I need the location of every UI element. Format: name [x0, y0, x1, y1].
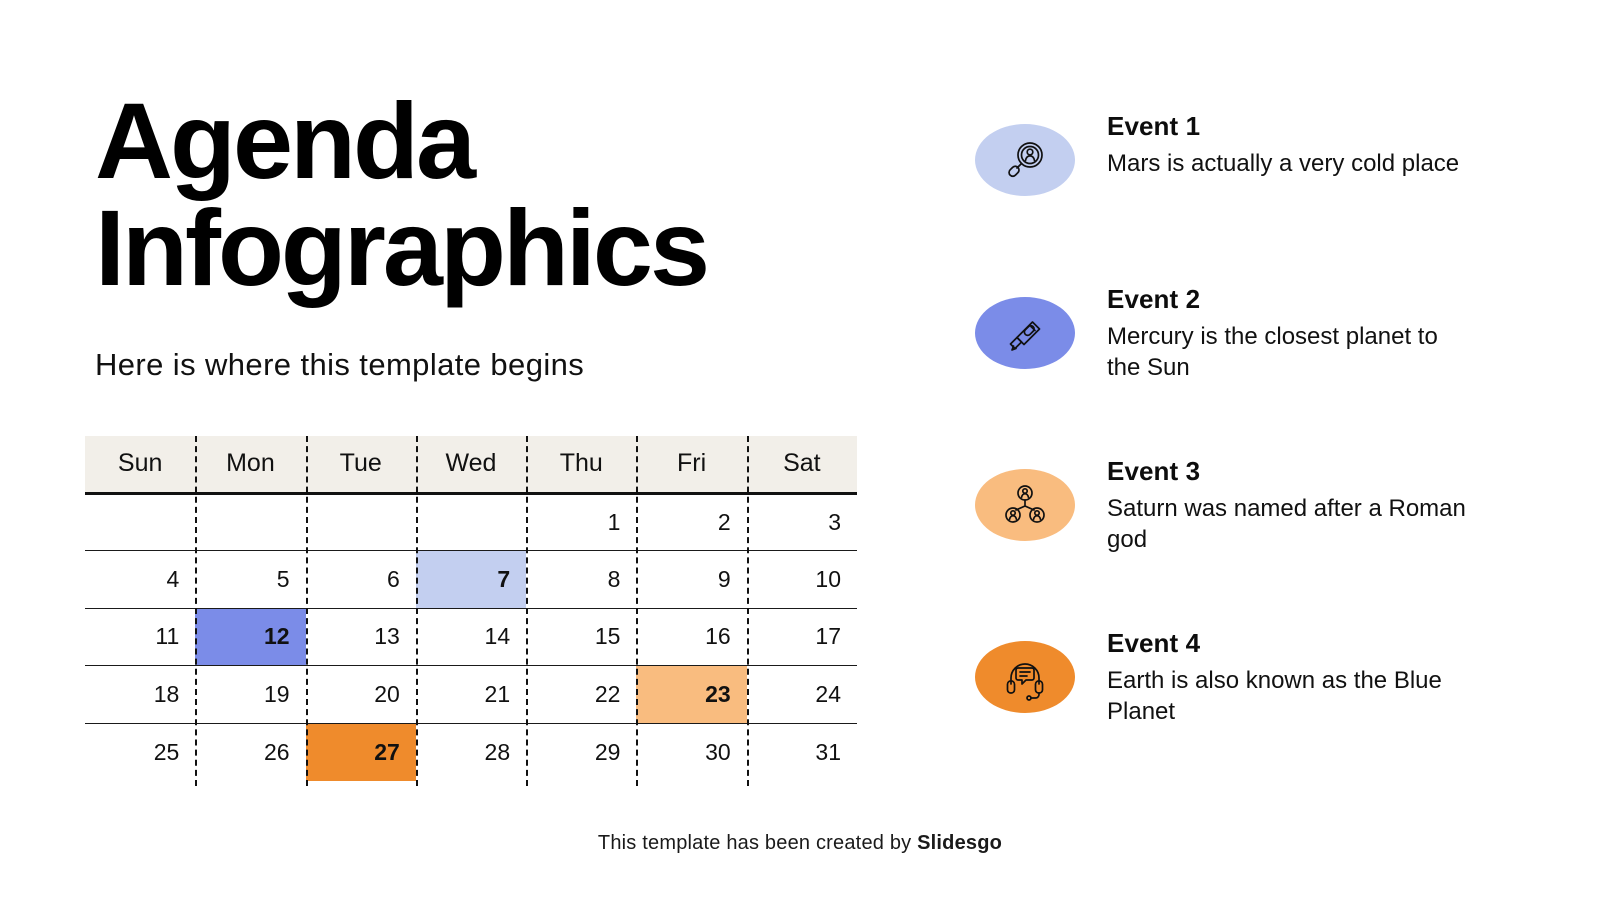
calendar-day-18[interactable]: 18	[85, 666, 195, 724]
event-text-block: Event 4Earth is also known as the Blue P…	[1107, 627, 1477, 728]
org-chart-people-icon-badge	[975, 469, 1075, 541]
calendar-day-21[interactable]: 21	[416, 666, 526, 724]
calendar-day-empty	[416, 493, 526, 551]
headset-support-icon-badge	[975, 641, 1075, 713]
calendar-day-31[interactable]: 31	[747, 723, 857, 781]
calendar-day-13[interactable]: 13	[306, 608, 416, 666]
calendar-day-1[interactable]: 1	[526, 493, 636, 551]
event-text-block: Event 2Mercury is the closest planet to …	[1107, 283, 1477, 384]
calendar-week-row: 11121314151617	[85, 608, 857, 666]
calendar-day-20[interactable]: 20	[306, 666, 416, 724]
calendar-day-4[interactable]: 4	[85, 551, 195, 609]
calendar-week-row: 18192021222324	[85, 666, 857, 724]
calendar-header-wed: Wed	[416, 436, 526, 493]
calendar-header-sat: Sat	[747, 436, 857, 493]
calendar-day-11[interactable]: 11	[85, 608, 195, 666]
calendar-day-12-highlighted[interactable]: 12	[195, 608, 305, 666]
calendar-day-empty	[85, 493, 195, 551]
calendar-week-row: 25262728293031	[85, 723, 857, 781]
left-content-panel: Agenda Infographics Here is where this t…	[0, 0, 900, 900]
calendar-day-16[interactable]: 16	[636, 608, 746, 666]
headset-support-icon	[1001, 653, 1049, 701]
calendar-day-8[interactable]: 8	[526, 551, 636, 609]
calendar-day-9[interactable]: 9	[636, 551, 746, 609]
page-title-line-1: Agenda	[95, 88, 885, 195]
calendar-day-empty	[306, 493, 416, 551]
calendar-header-tue: Tue	[306, 436, 416, 493]
calendar-header-row: Sun Mon Tue Wed Thu Fri Sat	[85, 436, 857, 493]
calendar-day-22[interactable]: 22	[526, 666, 636, 724]
calendar-day-27-highlighted[interactable]: 27	[306, 723, 416, 781]
event-description: Saturn was named after a Roman god	[1107, 493, 1477, 556]
event-text-block: Event 1Mars is actually a very cold plac…	[1107, 110, 1477, 179]
magnifier-person-icon-badge	[975, 124, 1075, 196]
calendar-day-19[interactable]: 19	[195, 666, 305, 724]
event-title: Event 4	[1107, 627, 1477, 660]
highlighter-marker-icon-badge	[975, 297, 1075, 369]
calendar-day-10[interactable]: 10	[747, 551, 857, 609]
page-subtitle: Here is where this template begins	[95, 347, 584, 383]
calendar-header-fri: Fri	[636, 436, 746, 493]
calendar-day-15[interactable]: 15	[526, 608, 636, 666]
calendar-day-30[interactable]: 30	[636, 723, 746, 781]
calendar-table: Sun Mon Tue Wed Thu Fri Sat 123456789101…	[85, 436, 857, 781]
calendar-header-mon: Mon	[195, 436, 305, 493]
calendar-day-3[interactable]: 3	[747, 493, 857, 551]
footer-brand: Slidesgo	[917, 832, 1002, 854]
calendar-day-28[interactable]: 28	[416, 723, 526, 781]
event-description: Earth is also known as the Blue Planet	[1107, 665, 1477, 728]
calendar-day-5[interactable]: 5	[195, 551, 305, 609]
footer-credit: This template has been created by Slides…	[0, 832, 1600, 855]
calendar-week-row: 45678910	[85, 551, 857, 609]
event-title: Event 2	[1107, 283, 1477, 316]
event-description: Mars is actually a very cold place	[1107, 148, 1477, 180]
event-title: Event 3	[1107, 455, 1477, 488]
org-chart-people-icon	[1001, 481, 1049, 529]
calendar-week-row: 123	[85, 493, 857, 551]
events-list: Event 1Mars is actually a very cold plac…	[972, 0, 1532, 900]
calendar-body: 1234567891011121314151617181920212223242…	[85, 493, 857, 781]
calendar-day-2[interactable]: 2	[636, 493, 746, 551]
calendar-header-thu: Thu	[526, 436, 636, 493]
calendar-header-sun: Sun	[85, 436, 195, 493]
calendar-day-17[interactable]: 17	[747, 608, 857, 666]
calendar-day-25[interactable]: 25	[85, 723, 195, 781]
calendar-day-6[interactable]: 6	[306, 551, 416, 609]
calendar-day-empty	[195, 493, 305, 551]
event-description: Mercury is the closest planet to the Sun	[1107, 321, 1477, 384]
calendar-day-14[interactable]: 14	[416, 608, 526, 666]
calendar-day-29[interactable]: 29	[526, 723, 636, 781]
page-title: Agenda Infographics	[95, 88, 885, 302]
footer-text: This template has been created by	[598, 832, 917, 854]
event-title: Event 1	[1107, 110, 1477, 143]
event-text-block: Event 3Saturn was named after a Roman go…	[1107, 455, 1477, 556]
calendar-day-26[interactable]: 26	[195, 723, 305, 781]
page-title-line-2: Infographics	[95, 195, 885, 302]
calendar-grid: Sun Mon Tue Wed Thu Fri Sat 123456789101…	[85, 436, 857, 781]
magnifier-person-icon	[1001, 136, 1049, 184]
calendar-day-24[interactable]: 24	[747, 666, 857, 724]
calendar-day-7-highlighted[interactable]: 7	[416, 551, 526, 609]
calendar-day-23-highlighted[interactable]: 23	[636, 666, 746, 724]
highlighter-marker-icon	[1001, 309, 1049, 357]
